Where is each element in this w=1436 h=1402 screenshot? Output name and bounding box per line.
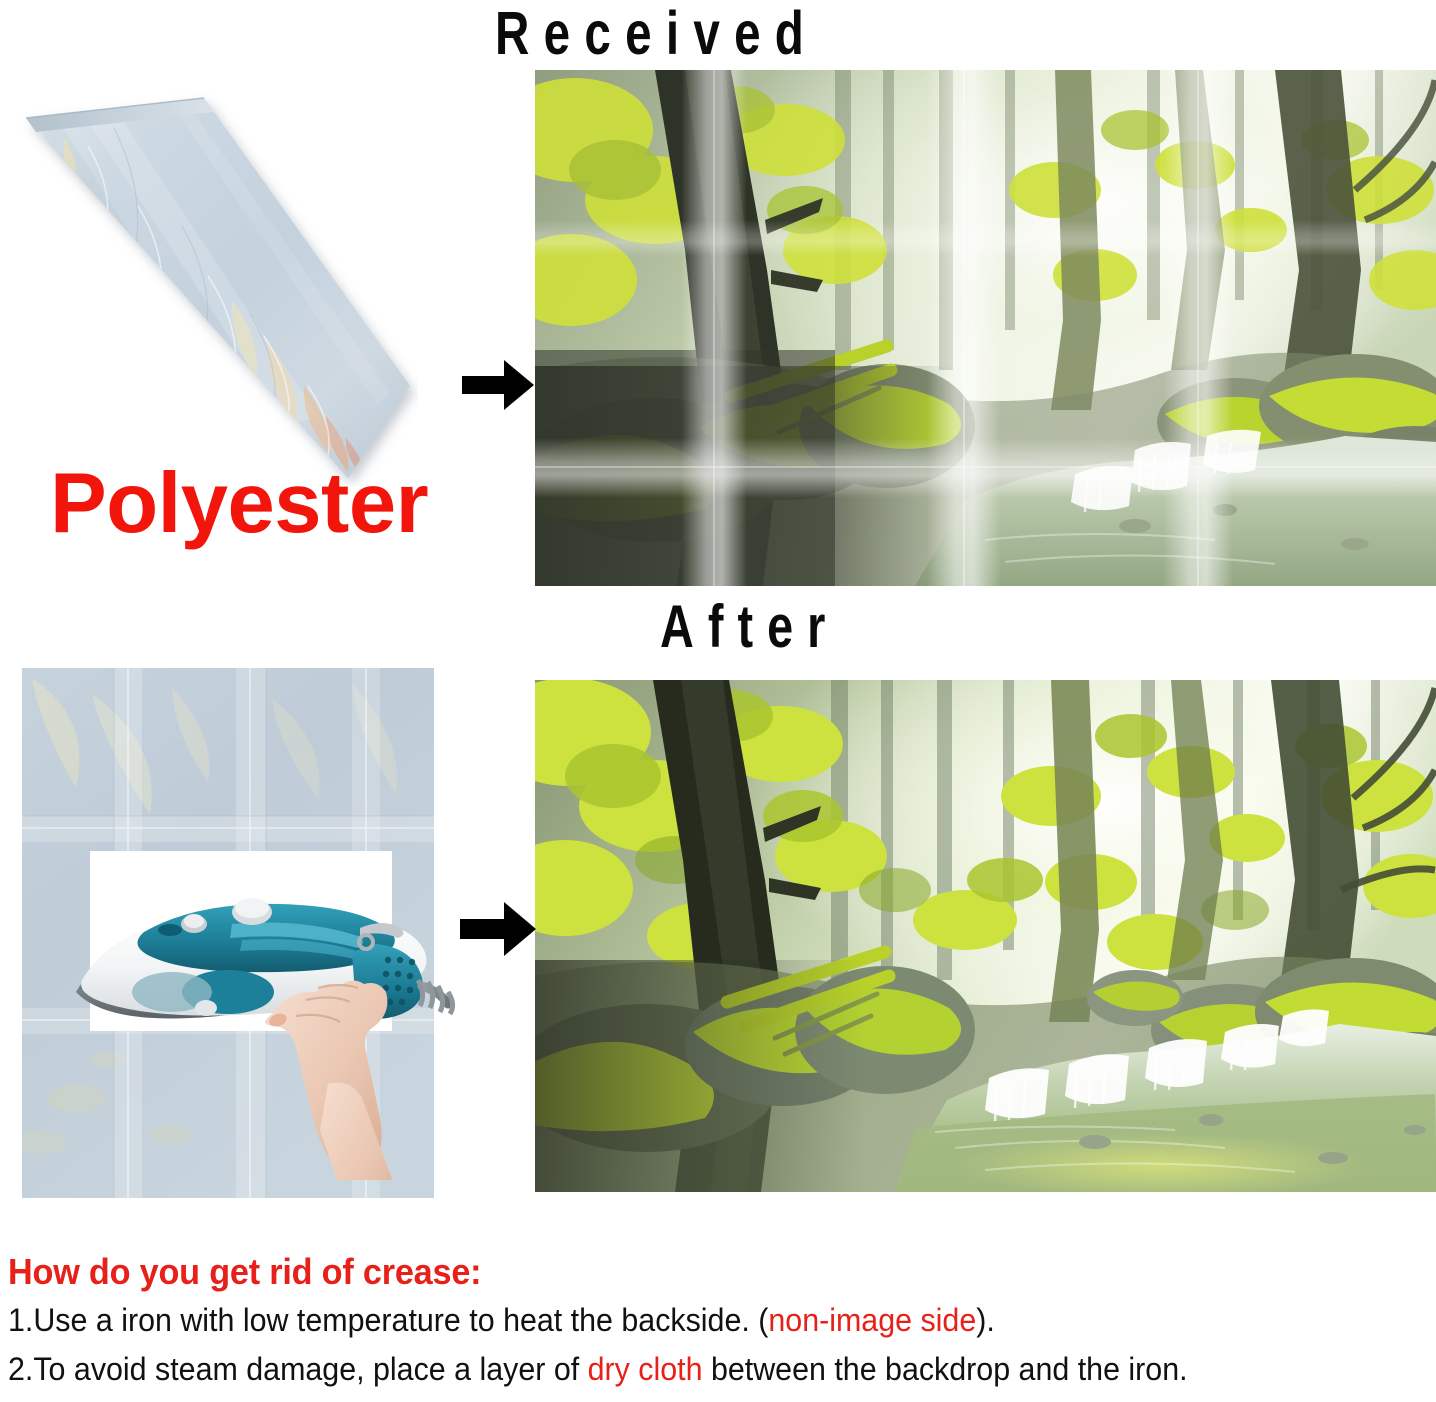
arrow-right-icon bbox=[458, 898, 538, 960]
after-heading: After bbox=[660, 592, 839, 661]
care-step-1-prefix: 1.Use a iron with low temperature to hea… bbox=[8, 1302, 768, 1338]
care-step-2-highlight: dry cloth bbox=[588, 1351, 703, 1387]
care-step-2-suffix: between the backdrop and the iron. bbox=[703, 1351, 1188, 1387]
after-photo bbox=[535, 680, 1436, 1192]
care-step-1-suffix: ). bbox=[976, 1302, 995, 1338]
care-step-1-highlight: non-image side bbox=[768, 1302, 976, 1338]
care-instructions: How do you get rid of crease: 1.Use a ir… bbox=[8, 1252, 1432, 1390]
material-label: Polyester bbox=[50, 455, 428, 553]
care-title: How do you get rid of crease: bbox=[8, 1252, 1361, 1292]
arrow-right-icon bbox=[460, 356, 536, 414]
iron-photo-plate bbox=[90, 851, 392, 1031]
care-step-2-prefix: 2.To avoid steam damage, place a layer o… bbox=[8, 1351, 588, 1387]
infographic-canvas: Received bbox=[0, 0, 1436, 1402]
received-photo bbox=[535, 70, 1436, 586]
care-step-1: 1.Use a iron with low temperature to hea… bbox=[8, 1300, 1361, 1341]
care-step-2: 2.To avoid steam damage, place a layer o… bbox=[8, 1349, 1361, 1390]
folded-fabric-image bbox=[18, 86, 418, 486]
received-heading: Received bbox=[495, 0, 818, 68]
